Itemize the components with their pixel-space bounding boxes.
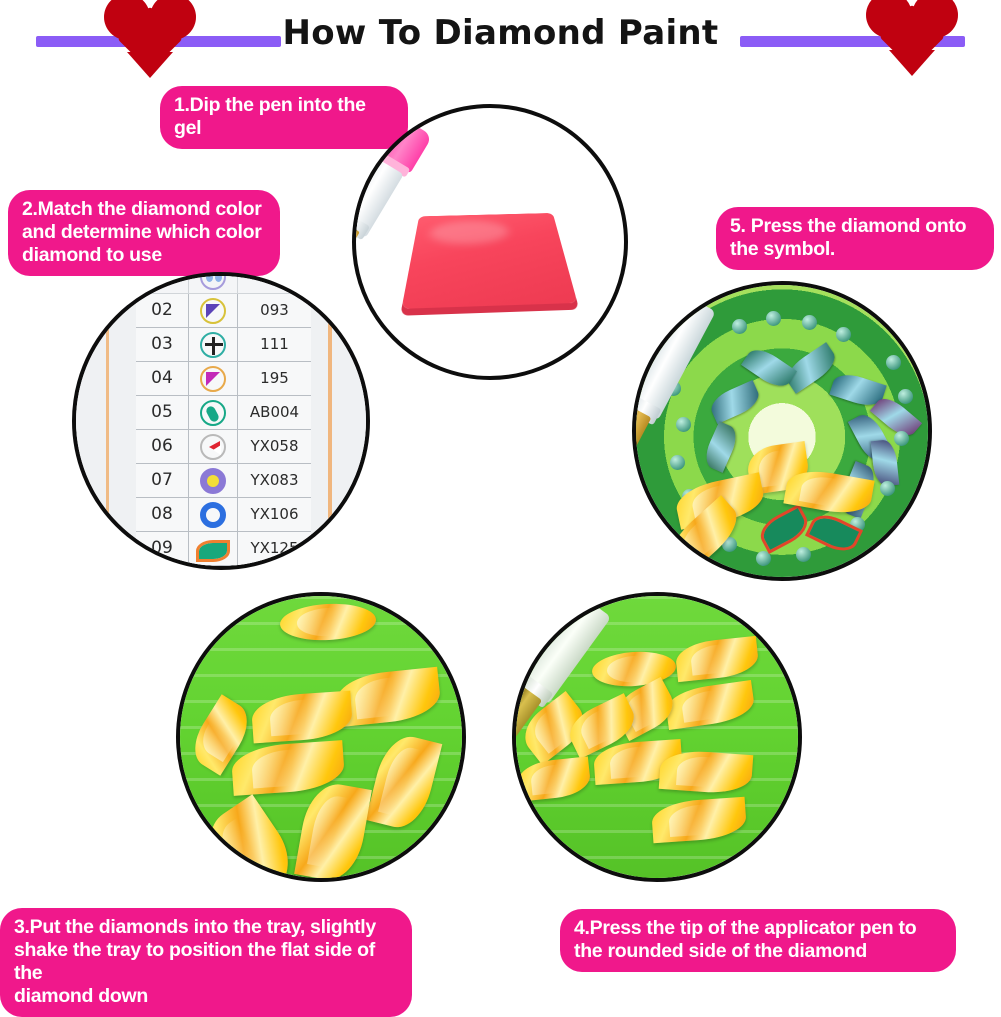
canvas-symbol-dot bbox=[732, 319, 747, 334]
chart-row: 01028 bbox=[136, 272, 311, 294]
canvas-symbol-dot bbox=[802, 315, 817, 330]
step-5-label: 5. Press the diamond onto the symbol. bbox=[716, 207, 994, 270]
chart-row-code: AB004 bbox=[238, 396, 311, 429]
canvas-gem bbox=[871, 439, 900, 487]
chart-row-code: YX125 bbox=[238, 532, 311, 565]
chart-row-number: 05 bbox=[136, 396, 189, 429]
canvas-gem bbox=[707, 380, 763, 424]
canvas-leaf-symbol bbox=[759, 508, 809, 550]
step-2-photo-circle: 0102802093031110419505AB00406YX05807YX08… bbox=[72, 272, 370, 570]
left-chevron-arrow-icon bbox=[200, 434, 226, 460]
double-dot-circle-icon bbox=[200, 272, 226, 290]
green-leaf-orange-outline-icon bbox=[199, 543, 227, 559]
canvas-symbol-dot bbox=[676, 417, 691, 432]
chart-row-symbol bbox=[189, 396, 238, 429]
triangle-flag-icon bbox=[200, 298, 226, 324]
chart-row-symbol bbox=[189, 430, 238, 463]
chart-row-symbol bbox=[189, 532, 238, 565]
canvas-symbol-dot bbox=[880, 481, 895, 496]
chart-row-number: 02 bbox=[136, 294, 189, 327]
canvas-symbol-dot bbox=[756, 551, 771, 566]
chart-row-number: 03 bbox=[136, 328, 189, 361]
magenta-triangle-icon bbox=[200, 366, 226, 392]
chart-row-code: YX083 bbox=[238, 464, 311, 497]
page-title: How To Diamond Paint bbox=[0, 13, 1001, 53]
blue-ring-icon bbox=[200, 502, 226, 528]
slanted-capsule-icon bbox=[200, 400, 226, 426]
step-4-label: 4.Press the tip of the applicator pen to… bbox=[560, 909, 956, 972]
page-header: How To Diamond Paint bbox=[0, 0, 1001, 78]
chart-row-number: 04 bbox=[136, 362, 189, 395]
chart-row-code: 028 bbox=[238, 272, 311, 293]
canvas-symbol-dot bbox=[670, 455, 685, 470]
chart-row-symbol bbox=[189, 464, 238, 497]
chart-row-symbol bbox=[189, 294, 238, 327]
step-3-photo-circle bbox=[176, 592, 466, 882]
chart-row-number: 06 bbox=[136, 430, 189, 463]
step-2-label: 2.Match the diamond color and determine … bbox=[8, 190, 280, 276]
chart-row-symbol bbox=[189, 328, 238, 361]
chart-row: 02093 bbox=[136, 294, 311, 328]
chart-row-symbol bbox=[189, 362, 238, 395]
canvas-symbol-dot bbox=[898, 389, 913, 404]
chart-row-number: 01 bbox=[136, 272, 189, 293]
chart-row: 09YX125 bbox=[136, 532, 311, 566]
chart-row-code: 093 bbox=[238, 294, 311, 327]
infographic-canvas: How To Diamond Paint 1.Dip the pen into … bbox=[0, 0, 1001, 1001]
chart-row-number: 07 bbox=[136, 464, 189, 497]
chart-row: 06YX058 bbox=[136, 430, 311, 464]
yellow-dot-in-purple-ring-icon bbox=[200, 468, 226, 494]
chart-row-code: 195 bbox=[238, 362, 311, 395]
chart-row-number: 08 bbox=[136, 498, 189, 531]
canvas-symbol-dot bbox=[766, 311, 781, 326]
chart-row: 05AB004 bbox=[136, 396, 311, 430]
chart-row-symbol bbox=[189, 498, 238, 531]
step-5-photo-circle bbox=[632, 281, 932, 581]
canvas-gem bbox=[701, 421, 742, 473]
chart-row-code: YX058 bbox=[238, 430, 311, 463]
step-4-photo-circle bbox=[512, 592, 802, 882]
canvas-symbol-dot bbox=[796, 547, 811, 562]
chart-row: 08YX106 bbox=[136, 498, 311, 532]
chart-row: 03111 bbox=[136, 328, 311, 362]
chart-row-code: 111 bbox=[238, 328, 311, 361]
plus-cross-icon bbox=[200, 332, 226, 358]
pink-gel-pad bbox=[401, 213, 577, 309]
diamond-color-chart: 0102802093031110419505AB00406YX05807YX08… bbox=[136, 272, 311, 566]
step-1-photo-circle bbox=[352, 104, 628, 380]
chart-row: 04195 bbox=[136, 362, 311, 396]
canvas-symbol-dot bbox=[894, 431, 909, 446]
chart-row-number: 09 bbox=[136, 532, 189, 565]
chart-row: 07YX083 bbox=[136, 464, 311, 498]
canvas-symbol-dot bbox=[836, 327, 851, 342]
canvas-symbol-dot bbox=[886, 355, 901, 370]
chart-row-code: YX106 bbox=[238, 498, 311, 531]
chart-row-symbol bbox=[189, 272, 238, 293]
